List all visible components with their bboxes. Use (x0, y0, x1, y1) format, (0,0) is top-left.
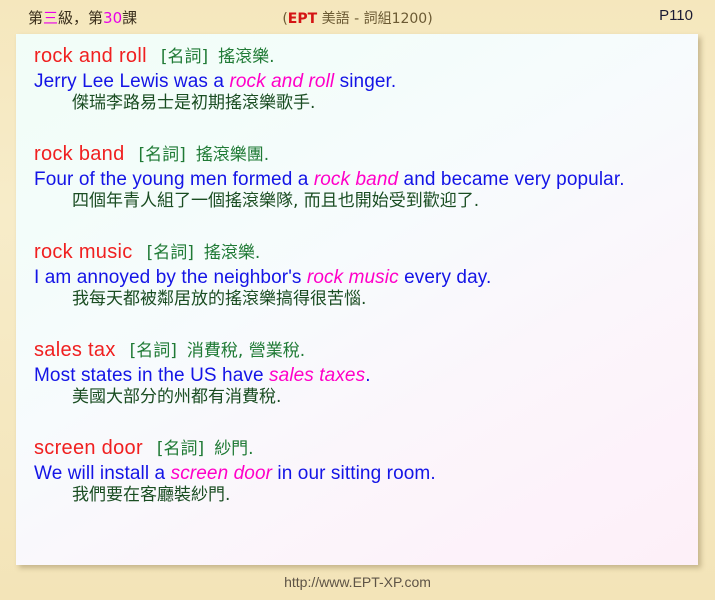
entry-example-sentence: We will install a screen door in our sit… (34, 464, 680, 483)
page-footer: http://www.EPT-XP.com (0, 565, 715, 600)
entry-translation: 我們要在客廳裝紗門. (34, 487, 680, 504)
vocabulary-panel: rock and roll[名詞]搖滾樂. Jerry Lee Lewis wa… (16, 34, 698, 565)
sentence-target-phrase: screen door (171, 463, 272, 484)
page-header: 第三級，第30課 (EPT 美語 - 詞組1200) P110 (0, 0, 715, 34)
entry-headword-line: rock and roll[名詞]搖滾樂. (34, 44, 680, 66)
sentence-after: . (365, 365, 370, 386)
entry-meaning: 搖滾樂. (218, 47, 274, 67)
website-url[interactable]: http://www.EPT-XP.com (284, 574, 431, 590)
sentence-after: every day. (399, 267, 492, 288)
entry-divider-space (34, 218, 680, 240)
sentence-target-phrase: sales taxes (269, 365, 365, 386)
sentence-target-phrase: rock and roll (229, 71, 334, 92)
entry-example-sentence: Jerry Lee Lewis was a rock and roll sing… (34, 72, 680, 91)
page-number: P110 (659, 7, 693, 24)
entry-headword: rock and roll (34, 45, 147, 67)
sentence-after: and became very popular. (398, 169, 624, 190)
vocabulary-entry: sales tax[名詞]消費稅, 營業稅. Most states in th… (34, 338, 680, 406)
entry-example-sentence: I am annoyed by the neighbor's rock musi… (34, 268, 680, 287)
sentence-after: in our sitting room. (272, 463, 436, 484)
vocabulary-entry: rock and roll[名詞]搖滾樂. Jerry Lee Lewis wa… (34, 44, 680, 112)
entry-headword: rock band (34, 143, 125, 165)
entry-headword: screen door (34, 437, 143, 459)
entry-part-of-speech: [名詞] (161, 47, 208, 67)
vocabulary-entry: screen door[名詞]紗門. We will install a scr… (34, 436, 680, 504)
entry-headword-line: rock music[名詞]搖滾樂. (34, 240, 680, 262)
entry-example-sentence: Four of the young men formed a rock band… (34, 170, 680, 189)
entry-part-of-speech: [名詞] (130, 341, 177, 361)
entry-meaning: 搖滾樂團. (196, 145, 269, 165)
entry-translation: 四個年青人組了一個搖滾樂隊, 而且也開始受到歡迎了. (34, 193, 680, 210)
title-rest: 美語 - 詞組1200) (317, 11, 433, 27)
sentence-before: Jerry Lee Lewis was a (34, 71, 229, 92)
sentence-target-phrase: rock band (314, 169, 398, 190)
entry-divider-space (34, 414, 680, 436)
entry-headword: sales tax (34, 339, 116, 361)
entry-part-of-speech: [名詞] (157, 439, 204, 459)
entry-headword-line: screen door[名詞]紗門. (34, 436, 680, 458)
entry-meaning: 消費稅, 營業稅. (187, 341, 305, 361)
sentence-before: Four of the young men formed a (34, 169, 314, 190)
sentence-before: We will install a (34, 463, 171, 484)
entry-example-sentence: Most states in the US have sales taxes. (34, 366, 680, 385)
brand-name: EPT (288, 11, 317, 27)
entry-part-of-speech: [名詞] (147, 243, 194, 263)
vocabulary-entry: rock band[名詞]搖滾樂團. Four of the young men… (34, 142, 680, 210)
book-title: (EPT 美語 - 詞組1200) (0, 8, 715, 28)
entry-meaning: 搖滾樂. (204, 243, 260, 263)
sentence-target-phrase: rock music (307, 267, 399, 288)
sentence-after: singer. (334, 71, 396, 92)
entry-translation: 美國大部分的州都有消費稅. (34, 389, 680, 406)
entry-divider-space (34, 316, 680, 338)
entry-headword-line: sales tax[名詞]消費稅, 營業稅. (34, 338, 680, 360)
sentence-before: Most states in the US have (34, 365, 269, 386)
vocabulary-entry: rock music[名詞]搖滾樂. I am annoyed by the n… (34, 240, 680, 308)
entry-divider-space (34, 120, 680, 142)
entry-translation: 我每天都被鄰居放的搖滾樂搞得很苦惱. (34, 291, 680, 308)
entry-headword: rock music (34, 241, 133, 263)
entry-meaning: 紗門. (214, 439, 253, 459)
entry-headword-line: rock band[名詞]搖滾樂團. (34, 142, 680, 164)
entry-translation: 傑瑞李路易士是初期搖滾樂歌手. (34, 95, 680, 112)
sentence-before: I am annoyed by the neighbor's (34, 267, 307, 288)
entry-part-of-speech: [名詞] (139, 145, 186, 165)
